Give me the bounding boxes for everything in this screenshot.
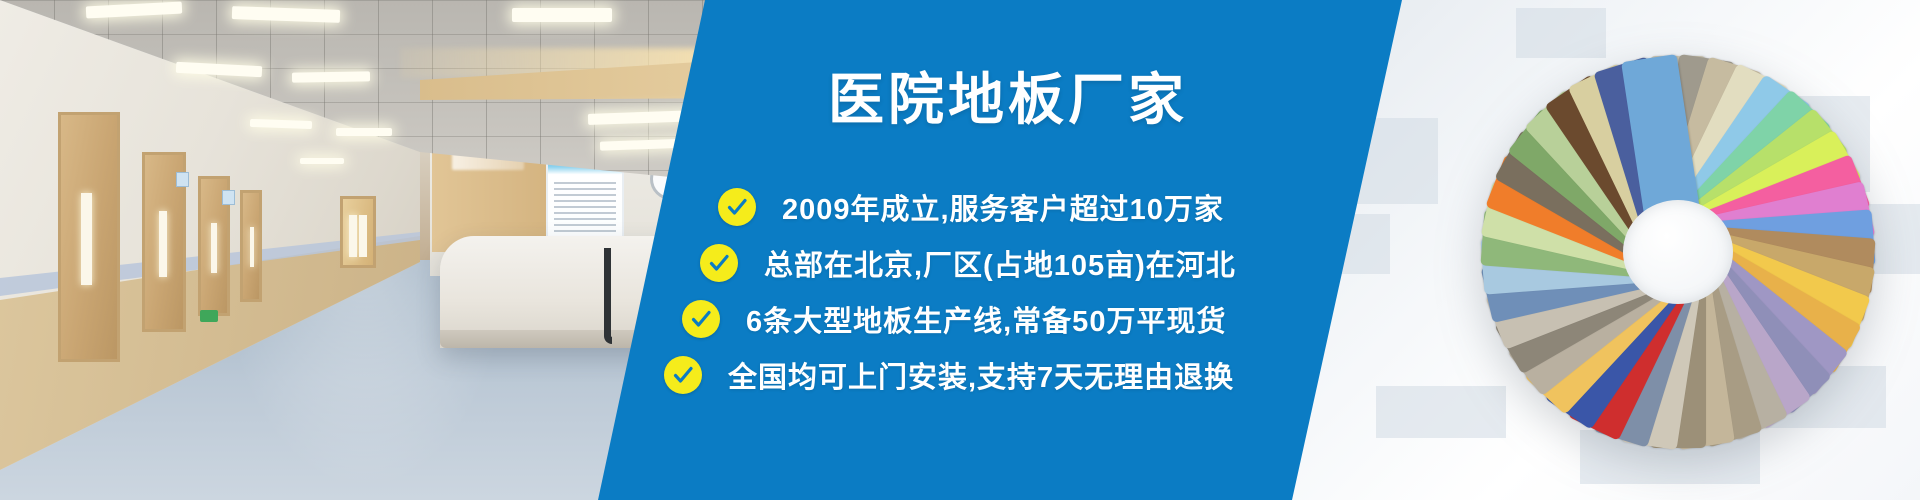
check-circle-icon bbox=[682, 300, 720, 338]
check-circle-icon bbox=[700, 244, 738, 282]
ceiling-light bbox=[292, 71, 370, 82]
feature-item-1: 2009年成立,服务客户超过10万家 bbox=[718, 186, 1224, 228]
ceiling-light bbox=[336, 128, 392, 136]
flooring-color-wheel bbox=[1468, 42, 1888, 462]
feature-item-2: 总部在北京,厂区(占地105亩)在河北 bbox=[700, 242, 1236, 284]
door-sign bbox=[176, 172, 189, 187]
feature-text: 全国均可上门安装,支持7天无理由退换 bbox=[728, 354, 1234, 396]
check-circle-icon bbox=[718, 188, 756, 226]
door-sign bbox=[222, 190, 235, 205]
corridor-door bbox=[58, 112, 120, 362]
corridor-door bbox=[240, 190, 262, 302]
feature-item-4: 全国均可上门安装,支持7天无理由退换 bbox=[664, 354, 1234, 396]
feature-item-3: 6条大型地板生产线,常备50万平现货 bbox=[682, 298, 1226, 340]
exit-sign-icon bbox=[200, 310, 218, 322]
feature-text: 6条大型地板生产线,常备50万平现货 bbox=[746, 298, 1226, 340]
corridor-far-door bbox=[340, 196, 376, 268]
ceiling-light bbox=[300, 158, 344, 164]
feature-text: 总部在北京,厂区(占地105亩)在河北 bbox=[764, 242, 1236, 284]
check-circle-icon bbox=[664, 356, 702, 394]
page-title: 医院地板厂家 bbox=[828, 72, 1188, 128]
counter-cable bbox=[604, 248, 612, 344]
hospital-flooring-banner: 医院地板厂家 2009年成立,服务客户超过10万家 总部在北京,厂区(占地105… bbox=[0, 0, 1920, 500]
ceiling-light bbox=[512, 8, 612, 22]
feature-text: 2009年成立,服务客户超过10万家 bbox=[782, 186, 1224, 228]
color-wheel-hub bbox=[1623, 200, 1733, 304]
